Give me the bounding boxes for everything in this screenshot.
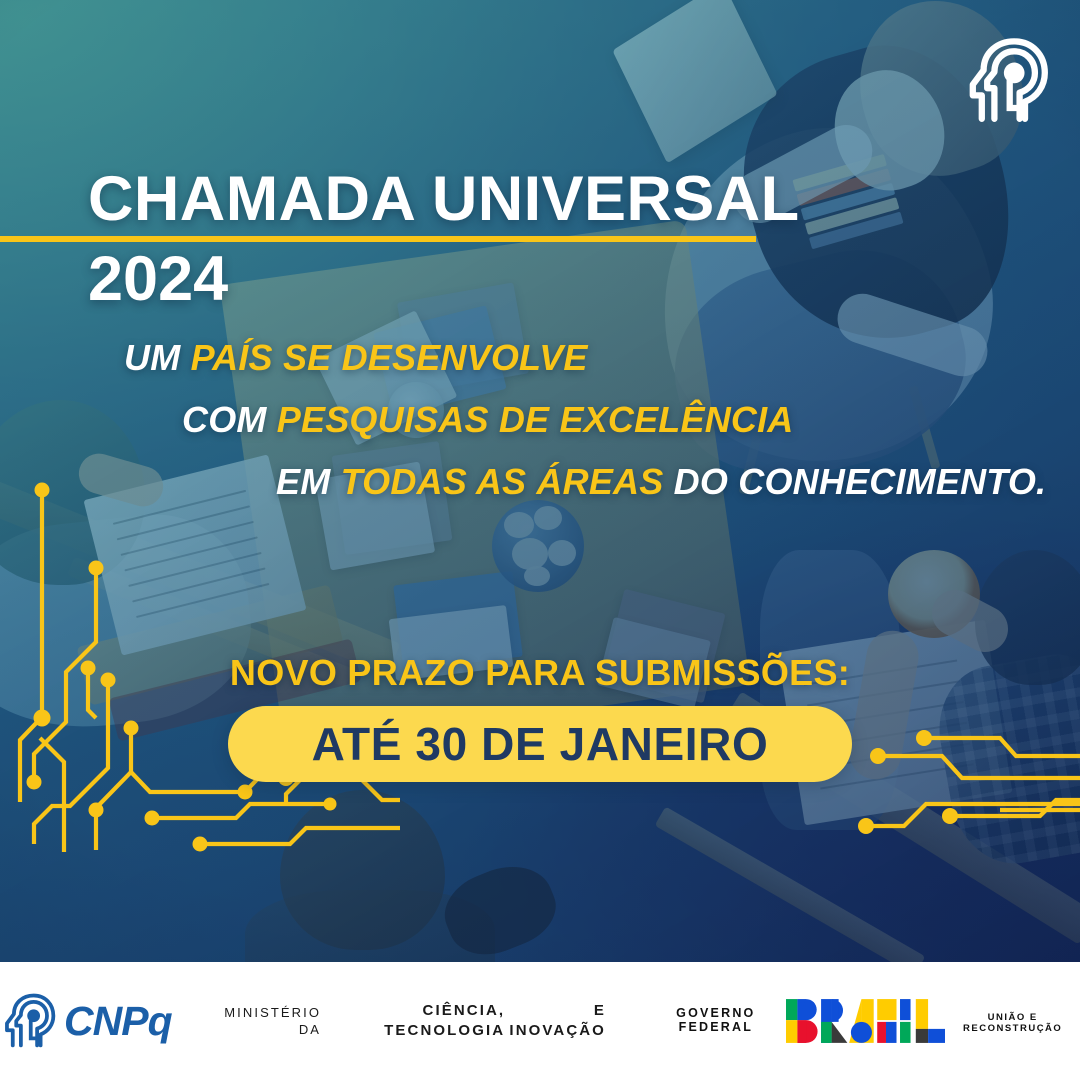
- tagline-line-2: COM PESQUISAS DE EXCELÊNCIA: [0, 402, 1000, 438]
- title-rule: [0, 236, 756, 242]
- ministry-line-3: E INOVAÇÃO: [505, 1001, 606, 1041]
- deadline-badge: ATÉ 30 DE JANEIRO: [228, 706, 852, 782]
- cnpq-head-icon: [962, 36, 1052, 126]
- tagline-plain: DO CONHECIMENTO.: [663, 461, 1046, 502]
- government-bottom-label: UNIÃO E RECONSTRUÇÃO: [945, 1012, 1080, 1034]
- tagline: UM PAÍS SE DESENVOLVE COM PESQUISAS DE E…: [0, 340, 1000, 500]
- footer-logos: CNPq MINISTÉRIO DA CIÊNCIA, TECNOLOGIA E…: [0, 962, 1080, 1080]
- tagline-highlight: TODAS AS ÁREAS: [341, 461, 664, 502]
- page-title-year: 2024: [88, 248, 228, 311]
- poster-canvas: CHAMADA UNIVERSAL 2024 UM PAÍS SE DESENV…: [0, 0, 1080, 1080]
- cnpq-wordmark: CNPq: [64, 998, 172, 1045]
- deadline-label: NOVO PRAZO PARA SUBMISSÕES:: [0, 652, 1080, 694]
- tagline-plain: UM: [124, 337, 191, 378]
- tagline-plain: COM: [182, 399, 277, 440]
- brasil-wordmark-icon: [786, 996, 946, 1046]
- deadline-value: ATÉ 30 DE JANEIRO: [312, 717, 769, 771]
- tagline-plain: EM: [276, 461, 341, 502]
- government-top-label: GOVERNO FEDERAL: [646, 1006, 786, 1034]
- ministry-line-1: MINISTÉRIO DA: [212, 1004, 321, 1038]
- tagline-line-1: UM PAÍS SE DESENVOLVE: [0, 340, 1000, 376]
- tagline-highlight: PESQUISAS DE EXCELÊNCIA: [277, 399, 794, 440]
- poster-content: CHAMADA UNIVERSAL 2024 UM PAÍS SE DESENV…: [0, 0, 1080, 1080]
- page-title: CHAMADA UNIVERSAL: [88, 168, 799, 231]
- tagline-line-3: EM TODAS AS ÁREAS DO CONHECIMENTO.: [0, 464, 1000, 500]
- ministry-line-2: CIÊNCIA, TECNOLOGIA: [321, 1001, 505, 1041]
- cnpq-logo: CNPq: [0, 992, 172, 1050]
- tagline-highlight: PAÍS SE DESENVOLVE: [191, 337, 588, 378]
- government-logo: GOVERNO FEDERAL: [646, 996, 1080, 1046]
- cnpq-head-icon: [0, 992, 58, 1050]
- ministry-logo: MINISTÉRIO DA CIÊNCIA, TECNOLOGIA E INOV…: [212, 1001, 606, 1041]
